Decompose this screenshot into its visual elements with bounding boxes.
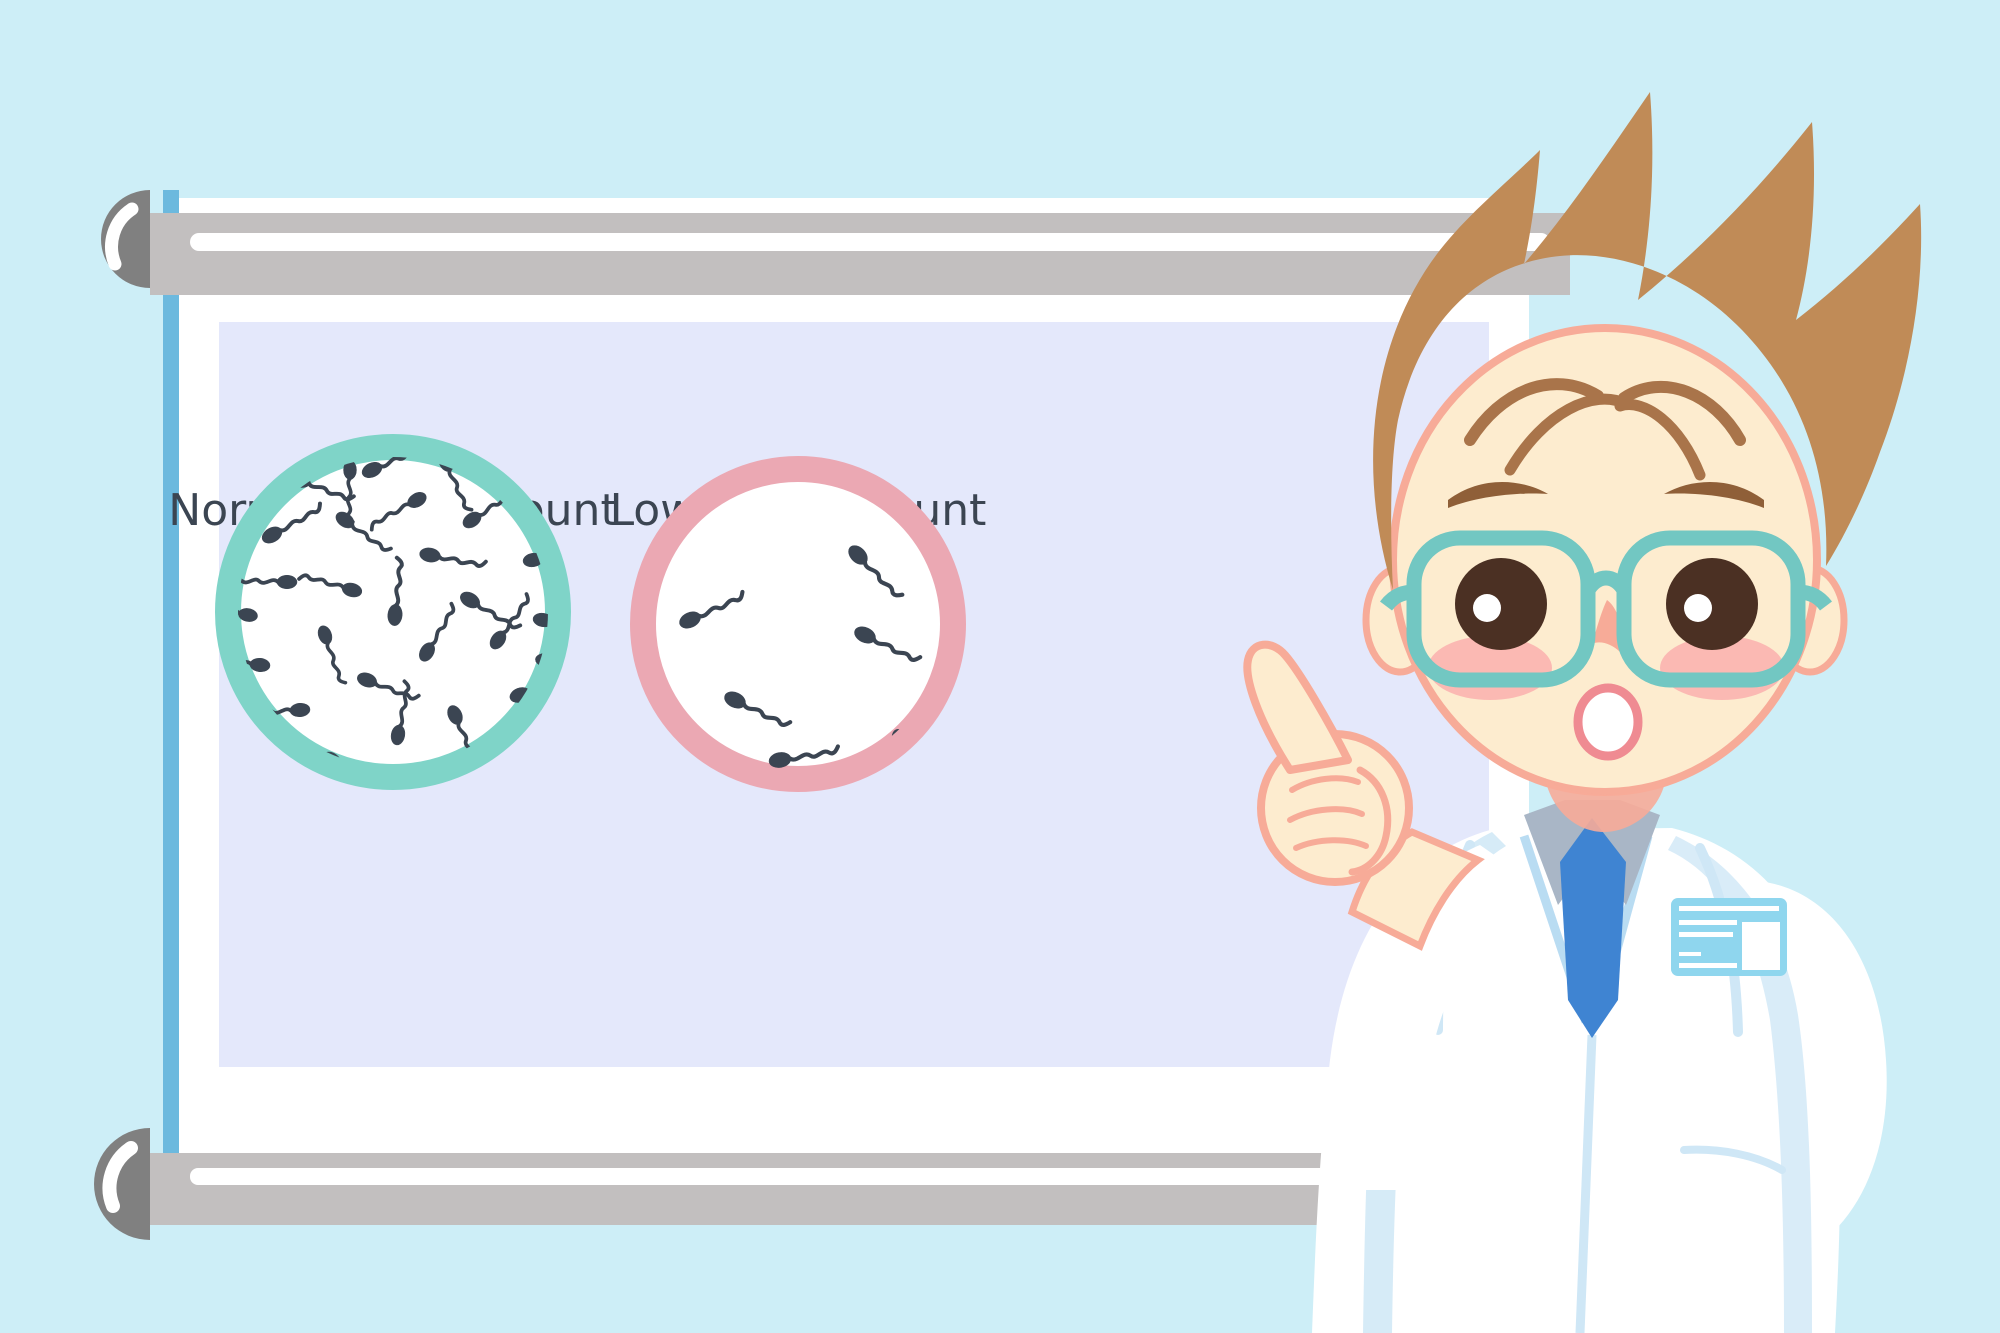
badge-line-2 (1679, 920, 1737, 925)
illustration-stage: Normal sperm count Low sperm count (0, 0, 2000, 1333)
badge-photo (1742, 922, 1780, 970)
eye-highlight-left (1473, 594, 1501, 622)
character-layer (0, 0, 2000, 1333)
eye-highlight-right (1684, 594, 1712, 622)
doctor-head (1373, 92, 1921, 792)
badge-line-4 (1679, 952, 1701, 956)
badge-line-5 (1679, 963, 1737, 968)
badge-line-1 (1679, 906, 1779, 911)
mouth (1578, 688, 1638, 756)
eye-left (1455, 558, 1547, 650)
eye-right (1666, 558, 1758, 650)
badge-line-3 (1679, 932, 1733, 937)
id-badge (1671, 898, 1787, 976)
index-finger (1247, 645, 1348, 770)
